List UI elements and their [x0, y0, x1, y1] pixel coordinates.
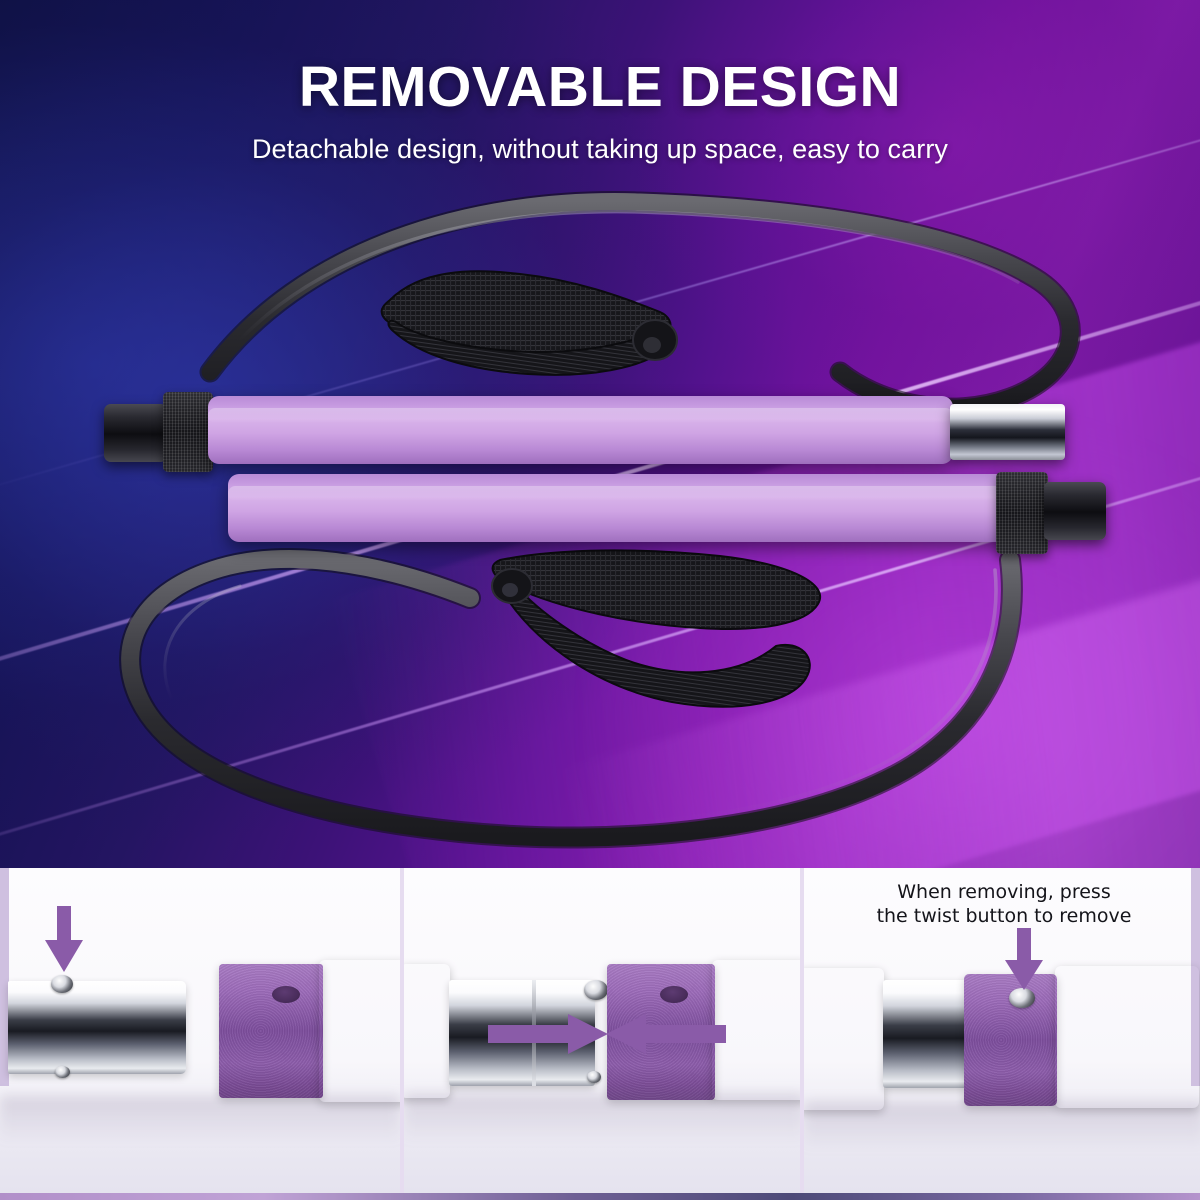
panel-twist-remove: When removing, press the twist button to… — [800, 868, 1200, 1200]
bottom-pin-panel2 — [587, 1071, 601, 1083]
bottom-pin — [55, 1066, 70, 1078]
foam-grip-panel1-inner — [219, 964, 323, 1098]
foam-grip-panel1-outer — [319, 960, 400, 1102]
foam-grip-panel3-right — [1055, 966, 1199, 1108]
arrow-right-icon — [488, 1014, 610, 1054]
chrome-connector-upper-right — [950, 404, 1065, 460]
foam-grip-panel3-left — [800, 968, 884, 1110]
end-cap-lower-right — [1044, 482, 1106, 540]
foam-grip-panel2-far-left — [400, 964, 450, 1098]
chrome-socket — [8, 981, 186, 1074]
panel-3-surface-shadow — [804, 1102, 1200, 1150]
twist-button[interactable] — [51, 975, 73, 993]
foam-sheen-upper — [208, 408, 953, 423]
panel-push-together — [400, 868, 800, 1200]
foam-grip-upper — [208, 396, 953, 464]
page-title: REMOVABLE DESIGN — [0, 58, 1200, 118]
panel-1-surface-shadow — [0, 1096, 400, 1142]
end-cap-upper-left — [104, 404, 166, 462]
arrow-left-icon — [604, 1014, 726, 1054]
hero-copy: REMOVABLE DESIGN Detachable design, with… — [0, 58, 1200, 165]
foam-hole-panel1 — [272, 986, 300, 1003]
instruction-panel-strip: When removing, press the twist button to… — [0, 868, 1200, 1200]
chrome-shaft-panel3 — [883, 980, 967, 1088]
foam-grip-lower — [228, 474, 1010, 542]
foam-sheen-lower — [228, 486, 1010, 501]
page-subtitle: Detachable design, without taking up spa… — [0, 134, 1200, 165]
panel-press-button — [0, 868, 400, 1200]
bottom-accent-strip — [0, 1193, 1200, 1200]
arrow-down-icon-panel3 — [1002, 928, 1046, 994]
webbing-wrap-lower-right — [996, 472, 1048, 554]
hero-banner: REMOVABLE DESIGN Detachable design, with… — [0, 0, 1200, 868]
panel-2-surface-shadow — [404, 1094, 800, 1142]
panel-3-caption-line-1: When removing, press — [804, 880, 1200, 904]
panel-3-caption-line-2: the twist button to remove — [804, 904, 1200, 928]
panel-3-caption: When removing, press the twist button to… — [804, 880, 1200, 929]
foam-hole-panel2 — [660, 986, 688, 1003]
twist-button-panel2[interactable] — [584, 980, 608, 1000]
webbing-wrap-upper-left — [163, 392, 213, 472]
arrow-down-icon — [42, 906, 86, 976]
